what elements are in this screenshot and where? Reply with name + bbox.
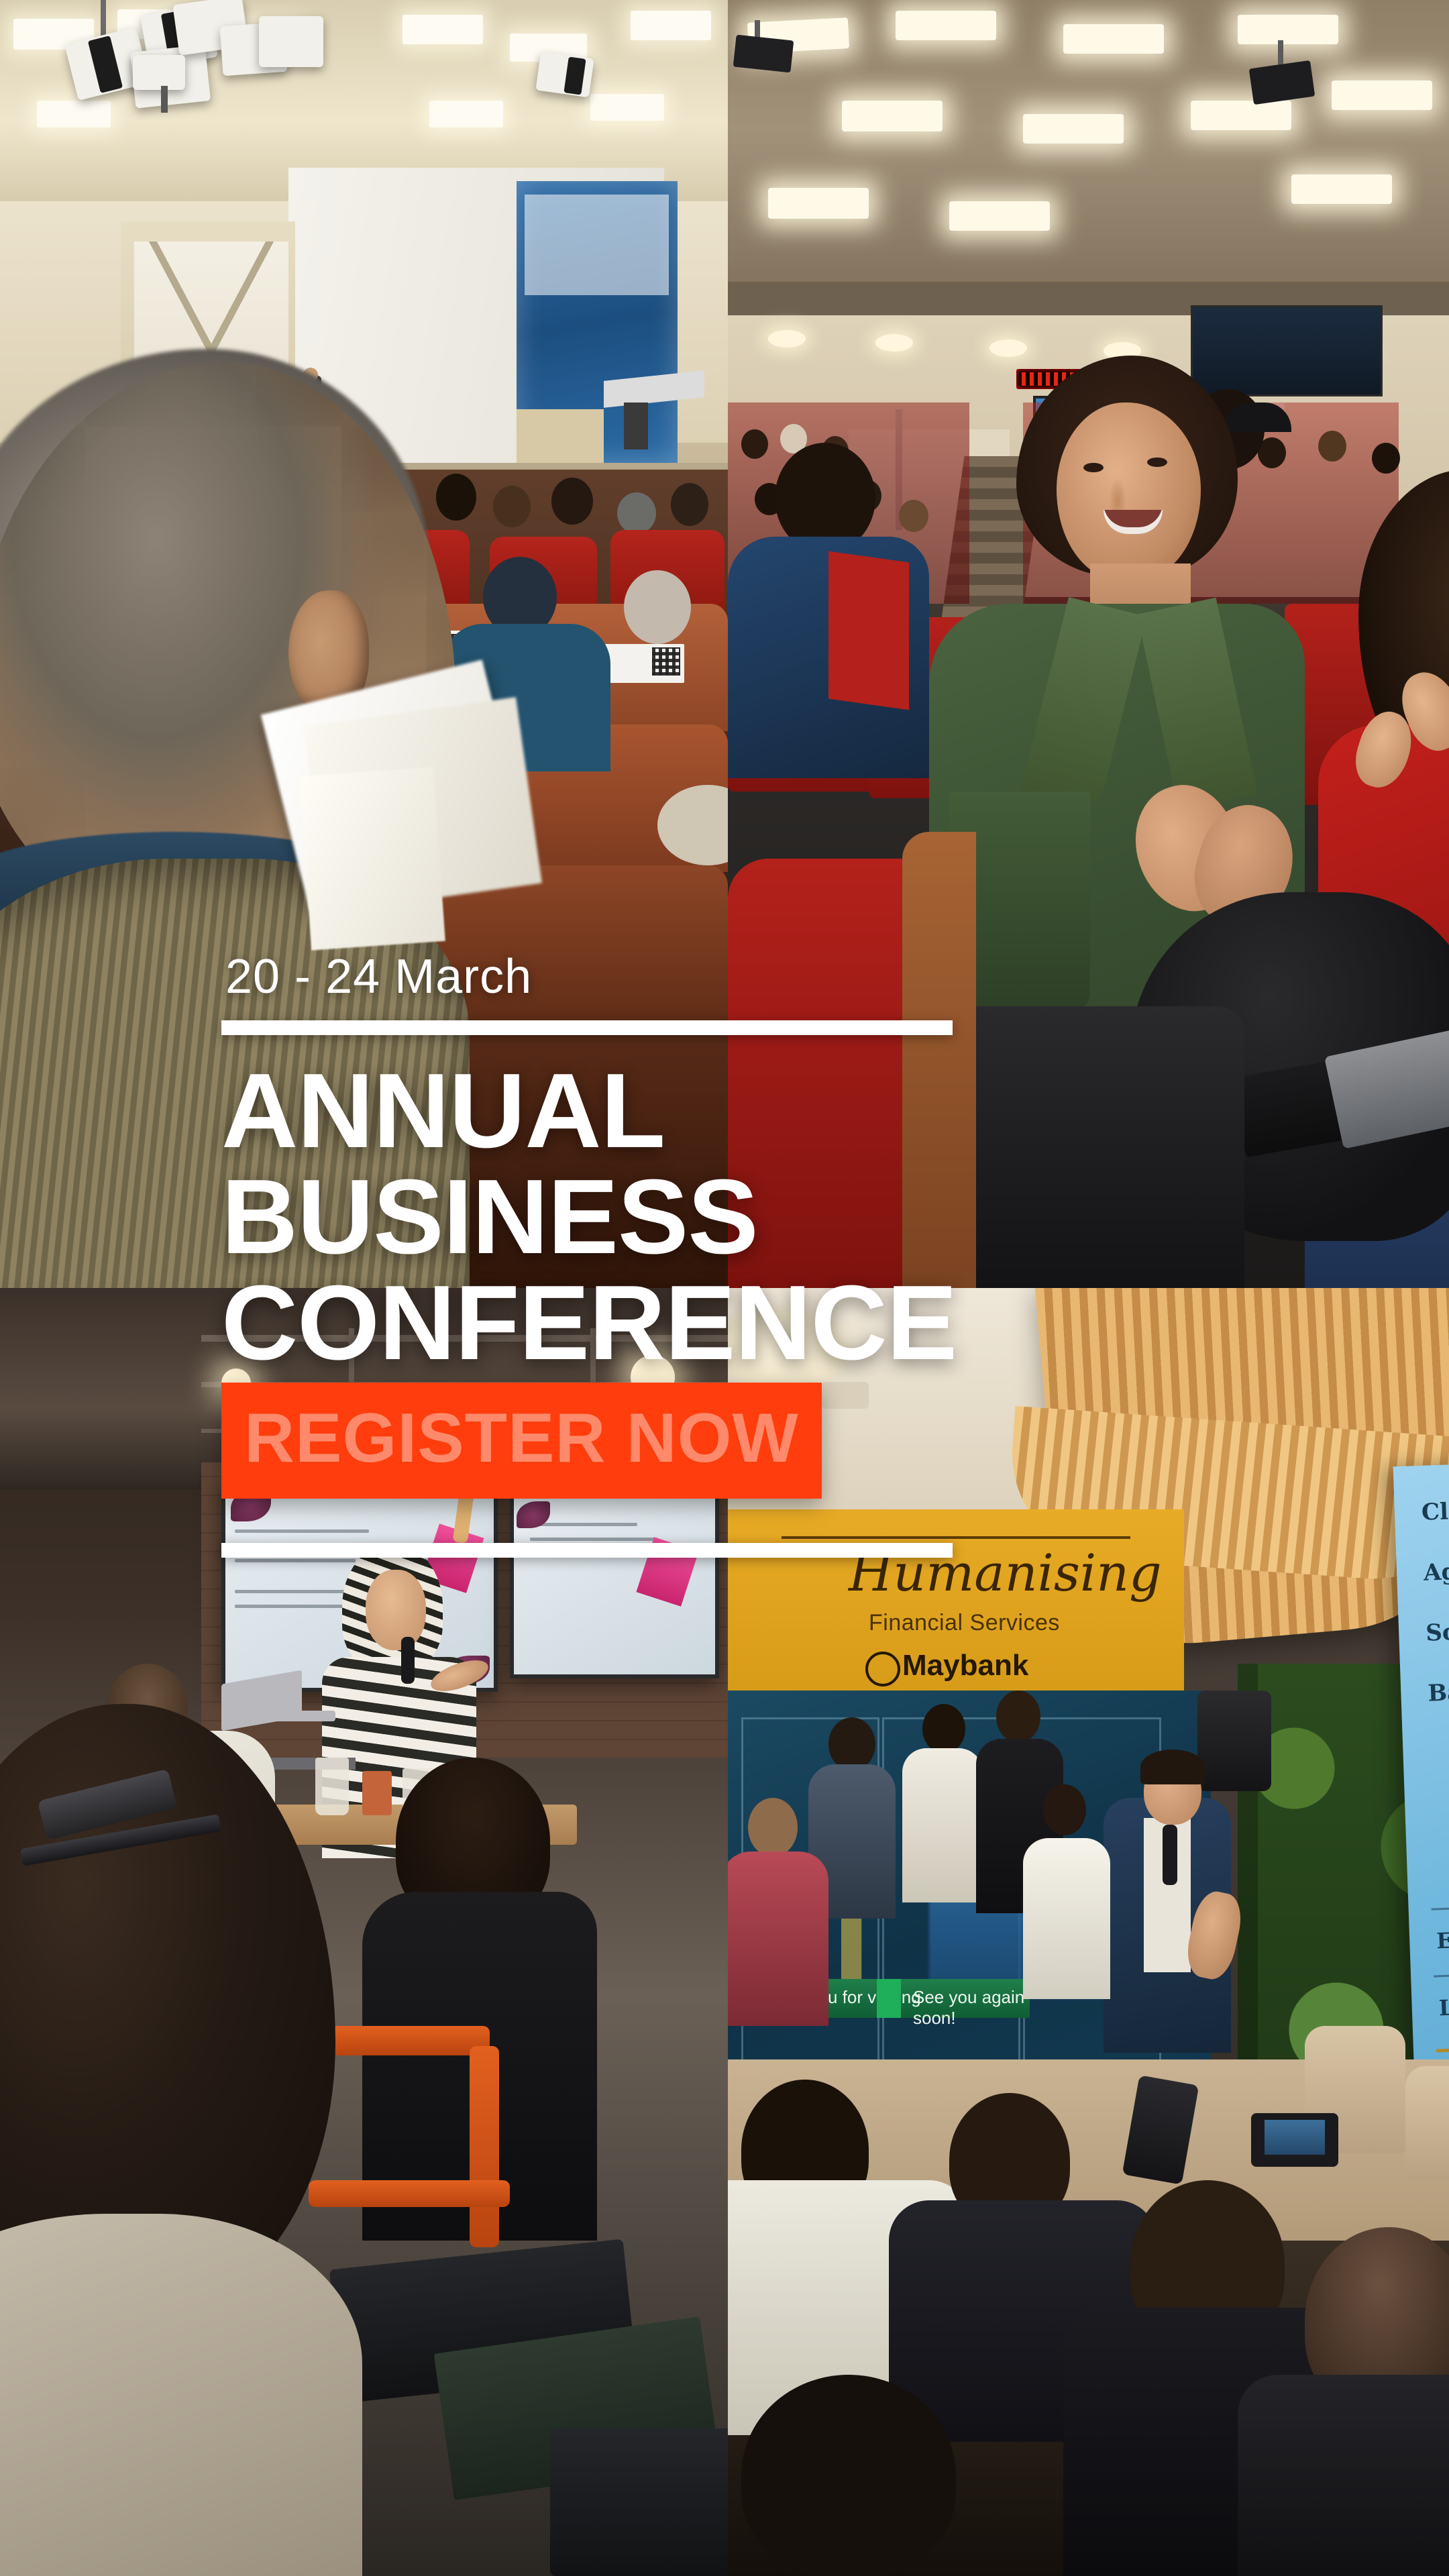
board-subject-2: Literature — [1438, 1991, 1449, 2021]
board-row-3: School Fees — [1426, 1615, 1449, 1647]
board-subject-1: English Language — [1436, 1921, 1449, 1953]
poster-canvas: Humanising Financial Services Maybank T … — [0, 0, 1449, 2576]
board-row-4: Basis of Eli — [1428, 1675, 1449, 1707]
photo-collage: Humanising Financial Services Maybank T … — [0, 0, 1449, 2576]
maybank-brand: Maybank — [902, 1649, 1028, 1682]
maybank-sign: Humanising Financial Services Maybank — [728, 1509, 1184, 1711]
mall-sign-right: See you again soon! — [913, 1987, 1030, 2029]
maybank-script-text: Humanising — [849, 1543, 1162, 1603]
photo-bottom-right: Humanising Financial Services Maybank T … — [728, 1288, 1449, 2576]
photo-top-left — [0, 0, 728, 1288]
maybank-subtitle: Financial Services — [869, 1610, 1060, 1636]
photo-bottom-left — [0, 1288, 728, 2576]
board-row-2: Age on 1st — [1423, 1555, 1449, 1587]
photo-top-right — [728, 0, 1449, 1288]
board-row-1: Class: Sec. — [1421, 1495, 1449, 1526]
